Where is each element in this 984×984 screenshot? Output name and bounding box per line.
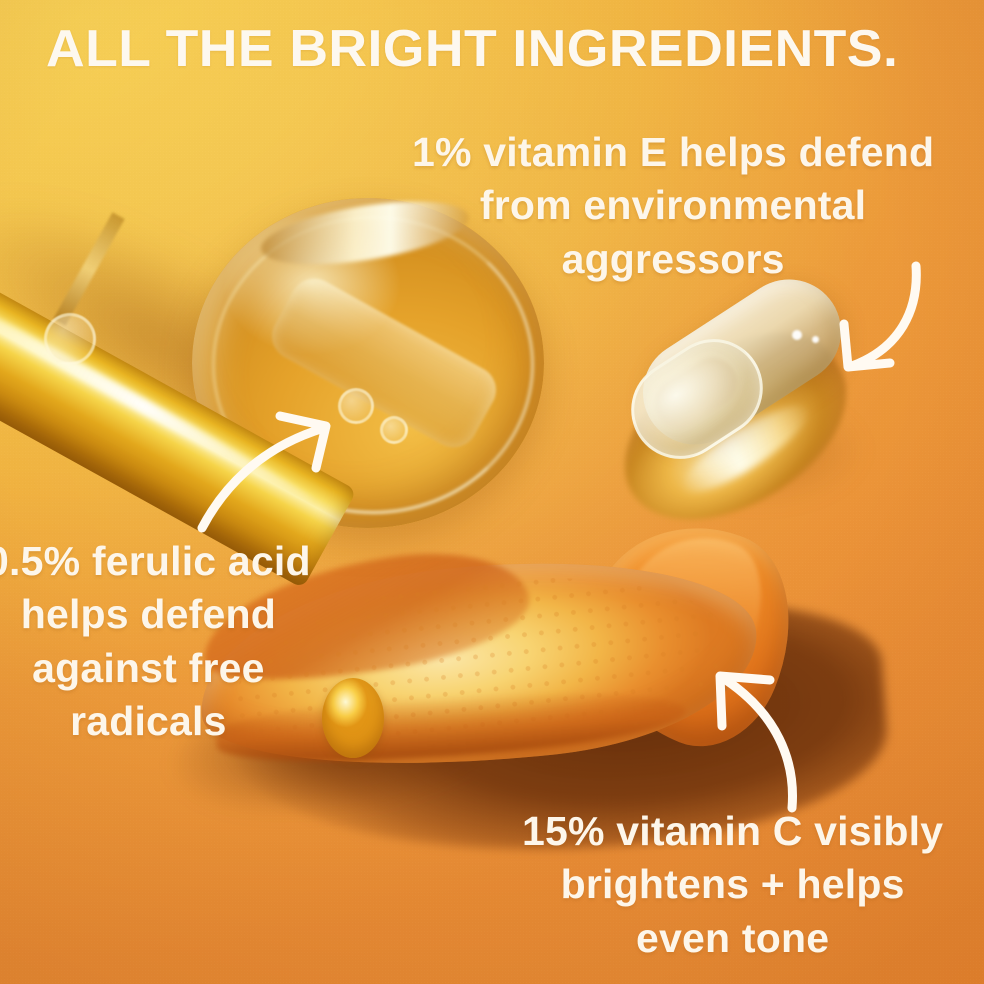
callout-line: from environmental [412,179,934,232]
callout-line: radicals [0,695,311,748]
callout-line: 15% vitamin C visibly [522,805,943,858]
callout-line: helps defend [0,588,311,641]
ferulic-acid-callout: 0.5% ferulic acid helps defend against f… [0,535,311,748]
callout-line: even tone [522,912,943,965]
vitamin-c-callout: 15% vitamin C visibly brightens + helps … [522,805,943,965]
page-title: ALL THE BRIGHT INGREDIENTS. [46,22,898,77]
callout-line: 0.5% ferulic acid [0,535,311,588]
callout-line: against free [0,642,311,695]
product-ingredient-graphic: ALL THE BRIGHT INGREDIENTS. 1% vitamin E… [0,0,984,984]
callout-line: aggressors [412,233,934,286]
callout-line: brightens + helps [522,858,943,911]
vitamin-e-callout: 1% vitamin E helps defend from environme… [412,126,934,286]
callout-line: 1% vitamin E helps defend [412,126,934,179]
